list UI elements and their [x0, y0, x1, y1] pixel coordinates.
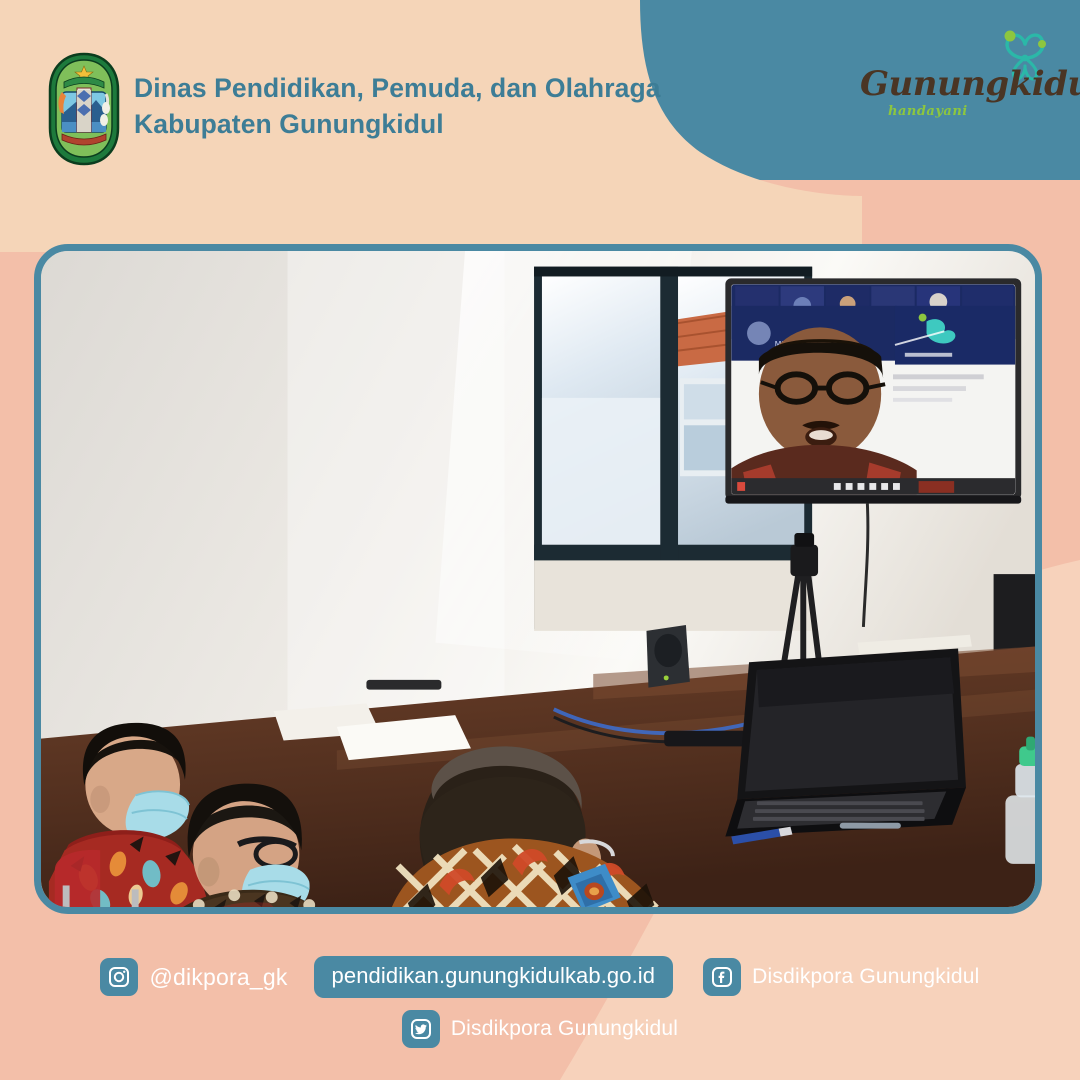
gunungkidul-brand-logo: Gunungkidul handayani	[860, 26, 1060, 136]
meeting-photo-illustration: MEDIA	[41, 251, 1035, 907]
website-link[interactable]: pendidikan.gunungkidulkab.go.id	[314, 956, 674, 998]
photo-card: MEDIA	[34, 244, 1042, 914]
brand-wordmark: Gunungkidul	[860, 64, 1040, 104]
social-link-facebook[interactable]: Disdikpora Gunungkidul	[703, 958, 979, 996]
social-link-instagram[interactable]: @dikpora_gk	[100, 958, 287, 996]
meeting-photo: MEDIA	[41, 251, 1035, 907]
header: Dinas Pendidikan, Pemuda, dan Olahraga K…	[0, 0, 1080, 200]
brand-tagline: handayani	[888, 104, 968, 119]
facebook-page-name: Disdikpora Gunungkidul	[752, 965, 979, 989]
twitter-account-name: Disdikpora Gunungkidul	[451, 1017, 678, 1041]
page-title: Dinas Pendidikan, Pemuda, dan Olahraga K…	[134, 70, 661, 142]
social-link-twitter[interactable]: Disdikpora Gunungkidul	[402, 1010, 678, 1048]
twitter-icon[interactable]	[402, 1010, 440, 1048]
social-row-primary: @dikpora_gk pendidikan.gunungkidulkab.go…	[0, 956, 1080, 998]
footer: @dikpora_gk pendidikan.gunungkidulkab.go…	[0, 938, 1080, 1080]
facebook-icon[interactable]	[703, 958, 741, 996]
social-row-secondary: Disdikpora Gunungkidul	[0, 1010, 1080, 1048]
crest-icon	[46, 52, 122, 166]
instagram-icon[interactable]	[100, 958, 138, 996]
instagram-handle: @dikpora_gk	[149, 964, 287, 991]
